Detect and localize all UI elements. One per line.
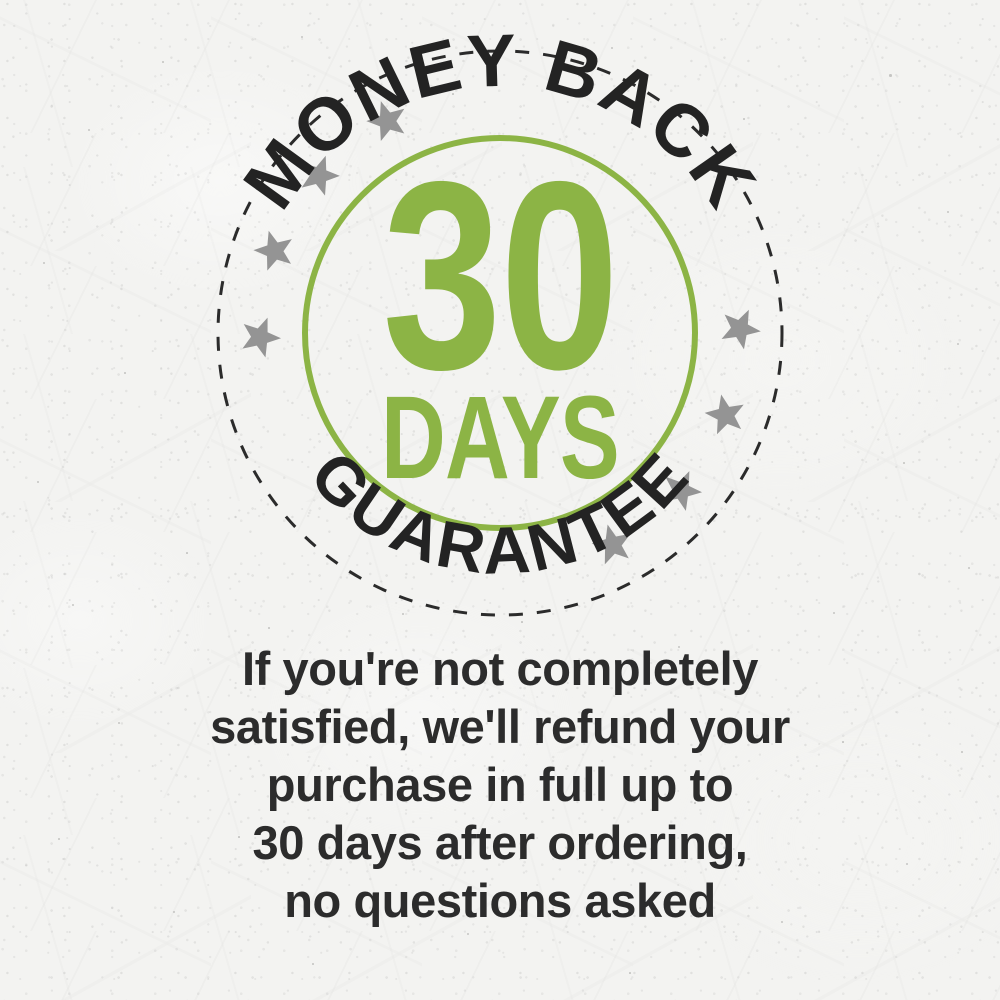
- guarantee-description-line: If you're not completely: [0, 640, 1000, 698]
- guarantee-banner: MONEY BACK GUARANTEE 30 DAYS If you're n…: [0, 0, 1000, 1000]
- guarantee-description-line: no questions asked: [0, 872, 1000, 930]
- guarantee-description: If you're not completelysatisfied, we'll…: [0, 640, 1000, 930]
- star-icon: [722, 310, 761, 350]
- guarantee-description-line: 30 days after ordering,: [0, 814, 1000, 872]
- guarantee-description-line: purchase in full up to: [0, 756, 1000, 814]
- star-icon: [705, 395, 744, 435]
- star-icon: [242, 318, 281, 358]
- star-icon: [253, 231, 291, 271]
- seal-unit-days: DAYS: [381, 372, 619, 504]
- guarantee-description-line: satisfied, we'll refund your: [0, 698, 1000, 756]
